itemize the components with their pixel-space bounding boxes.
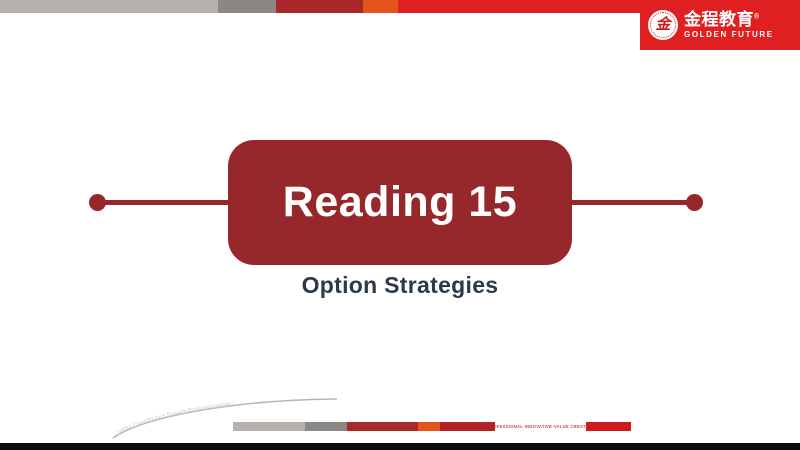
brand-logo: 金 金程教育® GOLDEN FUTURE [640, 0, 800, 50]
footer-arc-decoration: 100% Contribution Breeds Professionalism… [105, 398, 345, 440]
bottom-letterbox [0, 443, 800, 450]
right-end-dot-icon [686, 194, 703, 211]
title-badge: Reading 15 [228, 140, 572, 265]
bar-segment-light-gray [233, 422, 305, 431]
logo-english-name: GOLDEN FUTURE [684, 30, 774, 40]
right-connector-line [563, 200, 698, 205]
page-subtitle: Option Strategies [0, 272, 800, 299]
seal-icon: 金 [648, 10, 678, 40]
bar-segment-dark-gray [305, 422, 347, 431]
left-connector-line [97, 200, 237, 205]
seal-ring-icon [650, 12, 676, 38]
bar-segment-orange [418, 422, 440, 431]
bar-segment-orange [363, 0, 398, 13]
logo-chinese-name: 金程教育® [684, 11, 774, 29]
page-title: Reading 15 [283, 181, 517, 224]
logo-text-group: 金程教育® GOLDEN FUTURE [684, 11, 774, 39]
registered-trademark-icon: ® [754, 13, 760, 20]
bar-segment-dark-gray [218, 0, 276, 13]
bar-segment-deep-red [276, 0, 363, 13]
arc-slogan-text: 100% Contribution Breeds Professionalism… [116, 400, 236, 436]
bar-segment-brand-red [586, 422, 631, 431]
bar-segment-slogan: PROFESSIONAL·INNOVATIVE·VALUE CREATING [495, 422, 586, 431]
arc-line [113, 399, 337, 438]
bar-segment-light-gray [0, 0, 218, 13]
bar-segment-deep-red [347, 422, 418, 431]
logo-chinese-text: 金程教育 [684, 10, 754, 29]
bar-segment-deep-red-2 [440, 422, 495, 431]
title-composition: Reading 15 Option Strategies [0, 140, 800, 320]
presentation-slide: 金 金程教育® GOLDEN FUTURE Reading 15 Option … [0, 0, 800, 450]
footer-accent-bar: PROFESSIONAL·INNOVATIVE·VALUE CREATING [233, 422, 631, 431]
